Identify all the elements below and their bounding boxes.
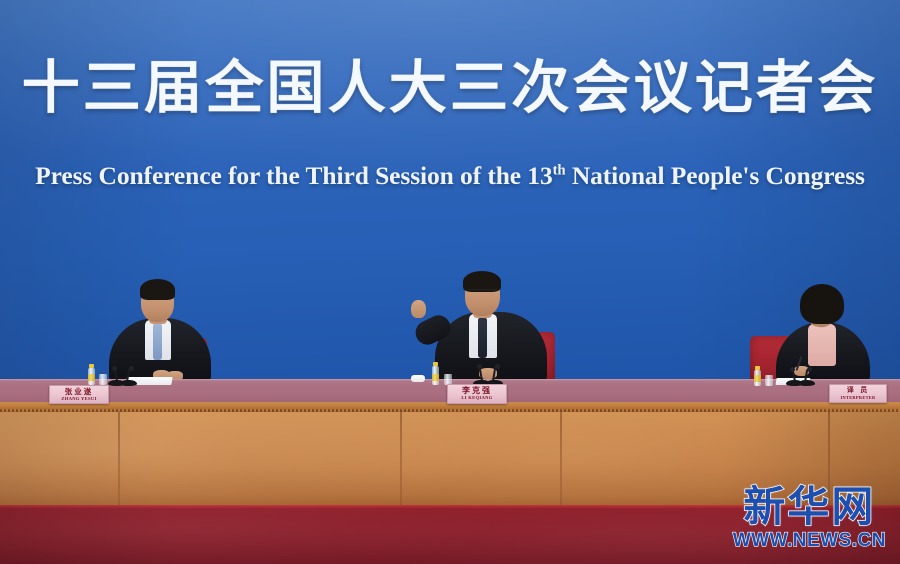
- napkin-center: [411, 375, 425, 382]
- table-seam-1: [118, 412, 120, 506]
- water-bottle-right: [754, 366, 761, 386]
- drinking-glass-right: [765, 375, 773, 386]
- hand-center-raised: [411, 300, 426, 318]
- mic-head: [477, 364, 482, 369]
- bottle-label-right: [754, 375, 761, 382]
- nameplate-left-name-en: ZHANG YESUI: [61, 397, 96, 402]
- mic-base: [798, 380, 815, 386]
- xinhua-watermark: 新华网 WWW.NEWS.CN: [733, 486, 886, 550]
- banner-title-chinese: 十三届全国人大三次会议记者会: [0, 60, 900, 117]
- water-bottle-center: [432, 362, 439, 385]
- banner-title-english: Press Conference for the Third Session o…: [0, 163, 900, 189]
- xinhua-logo-text: 新华网: [733, 486, 886, 528]
- mic-head: [807, 367, 812, 372]
- tie-center: [478, 318, 487, 358]
- nameplate-left: 张业遂 ZHANG YESUI: [49, 385, 109, 404]
- bottle-cap-left: [89, 364, 94, 368]
- nameplate-right-name-cn: 译 员: [847, 387, 869, 394]
- water-bottle-left: [88, 364, 95, 385]
- banner-title-english-after: National People's Congress: [566, 161, 865, 190]
- nameplate-left-name-cn: 张业遂: [65, 388, 94, 396]
- nameplate-center: 李克强 LI KEQIANG: [447, 384, 507, 404]
- nameplate-center-name-en: LI KEQIANG: [461, 396, 492, 401]
- nameplate-right: 译 员 INTERPRETER: [829, 384, 887, 403]
- mic-head: [129, 366, 134, 371]
- press-conference-photo: 十三届全国人大三次会议记者会 Press Conference for the …: [0, 0, 900, 564]
- banner-title-english-before: Press Conference for the Third Session o…: [35, 161, 552, 190]
- xinhua-url-text: WWW.NEWS.CN: [733, 531, 886, 550]
- nameplate-center-name-cn: 李克强: [462, 387, 492, 395]
- nameplate-right-name-en: INTERPRETER: [840, 396, 875, 400]
- mic-base: [120, 380, 137, 386]
- bottle-label-left: [88, 374, 95, 381]
- banner-title-english-ordinal: th: [553, 163, 566, 179]
- mic-head: [112, 366, 117, 371]
- bottle-cap-center: [433, 362, 438, 366]
- table-seam-2: [400, 412, 402, 506]
- microphone-right-b: [798, 367, 815, 386]
- mic-head: [495, 364, 500, 369]
- microphone-left-b: [120, 366, 137, 386]
- microphone-center-b: [486, 364, 503, 386]
- hair-left: [140, 279, 175, 300]
- table-seam-3: [560, 412, 562, 506]
- bottle-cap-right: [755, 366, 760, 370]
- person-right: [760, 278, 890, 384]
- hair-right: [800, 284, 844, 324]
- blouse-right: [808, 324, 836, 366]
- bottle-label-center: [432, 374, 439, 381]
- tie-left: [153, 324, 162, 360]
- drinking-glass-left: [99, 374, 107, 385]
- mic-head: [790, 367, 795, 372]
- glasses-icon: [468, 289, 497, 296]
